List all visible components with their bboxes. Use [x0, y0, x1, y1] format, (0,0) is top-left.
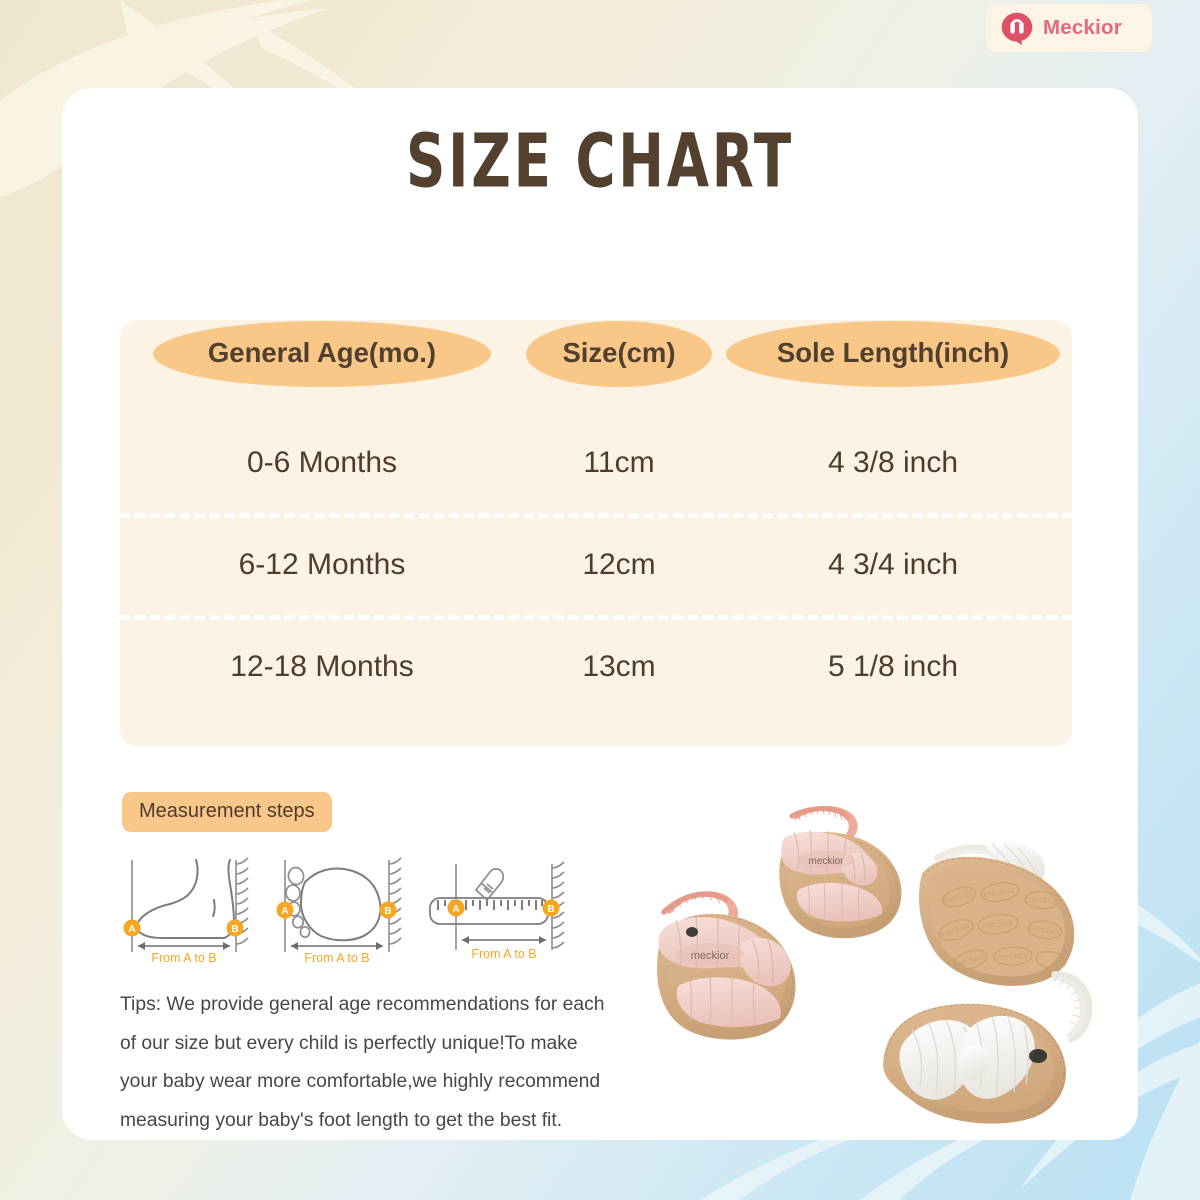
white-sandal-sole-view: meckior meckior meckior meckior meckior …: [919, 840, 1074, 986]
meckior-speech-bubble-m-logo-icon: [1000, 11, 1034, 45]
cell-age: 12-18 Months: [120, 650, 524, 684]
size-chart-table: General Age(mo.) Size(cm) Sole Length(in…: [120, 320, 1072, 718]
size-chart-card: SIZE CHART General Age(mo.) Size(cm) Sol…: [62, 88, 1138, 1140]
page-title: SIZE CHART: [105, 122, 1095, 202]
svg-text:B: B: [384, 906, 391, 917]
from-a-to-b-label: From A to B: [471, 947, 536, 961]
cell-size: 12cm: [524, 548, 714, 582]
table-body: 0-6 Months 11cm 4 3/8 inch 6-12 Months 1…: [120, 388, 1072, 718]
svg-text:B: B: [231, 924, 238, 935]
cell-sole-length: 4 3/4 inch: [714, 548, 1072, 582]
svg-text:A: A: [281, 906, 288, 917]
table-row: 12-18 Months 13cm 5 1/8 inch: [120, 616, 1072, 718]
footprint-top-view-icon: A B From A to B: [271, 850, 419, 966]
cell-size: 11cm: [524, 446, 714, 480]
svg-text:A: A: [452, 904, 459, 915]
svg-text:A: A: [128, 924, 135, 935]
measurement-diagrams: A B From A to B: [118, 850, 572, 966]
cell-sole-length: 4 3/8 inch: [714, 446, 1072, 480]
header-pill-size: Size(cm): [526, 321, 712, 387]
cell-sole-length: 5 1/8 inch: [714, 650, 1072, 684]
foot-side-view-icon: A B From A to B: [118, 850, 266, 966]
table-row: 6-12 Months 12cm 4 3/4 inch: [120, 514, 1072, 616]
white-sandal-top-view: [883, 972, 1091, 1124]
cell-size: 13cm: [524, 650, 714, 684]
measurement-steps-badge: Measurement steps: [122, 792, 332, 832]
from-a-to-b-label: From A to B: [304, 951, 369, 965]
header-pill-age: General Age(mo.): [153, 321, 491, 387]
cell-age: 6-12 Months: [120, 548, 524, 582]
pink-sandal-right: meckior: [779, 806, 901, 938]
table-row: 0-6 Months 11cm 4 3/8 inch: [120, 412, 1072, 514]
cell-age: 0-6 Months: [120, 446, 524, 480]
baby-sandals-product-photo: meckior: [648, 804, 1126, 1134]
table-header-cell-size: Size(cm): [524, 320, 714, 388]
from-a-to-b-label: From A to B: [151, 951, 216, 965]
ruler-pencil-icon: A B From A to B: [424, 850, 572, 966]
svg-text:meckior: meckior: [808, 856, 844, 867]
brand-name-label: Meckior: [1043, 16, 1122, 40]
table-header-cell-sole-length: Sole Length(inch): [714, 320, 1072, 388]
pink-sandal-left: meckior: [657, 891, 796, 1039]
header-pill-sole-length: Sole Length(inch): [726, 321, 1060, 387]
svg-text:B: B: [547, 904, 554, 915]
svg-text:meckior: meckior: [691, 950, 730, 962]
brand-logo-badge: Meckior: [986, 4, 1152, 52]
tips-text: Tips: We provide general age recommendat…: [120, 986, 620, 1140]
table-header-cell-age: General Age(mo.): [120, 320, 524, 388]
table-header-row: General Age(mo.) Size(cm) Sole Length(in…: [120, 320, 1072, 388]
